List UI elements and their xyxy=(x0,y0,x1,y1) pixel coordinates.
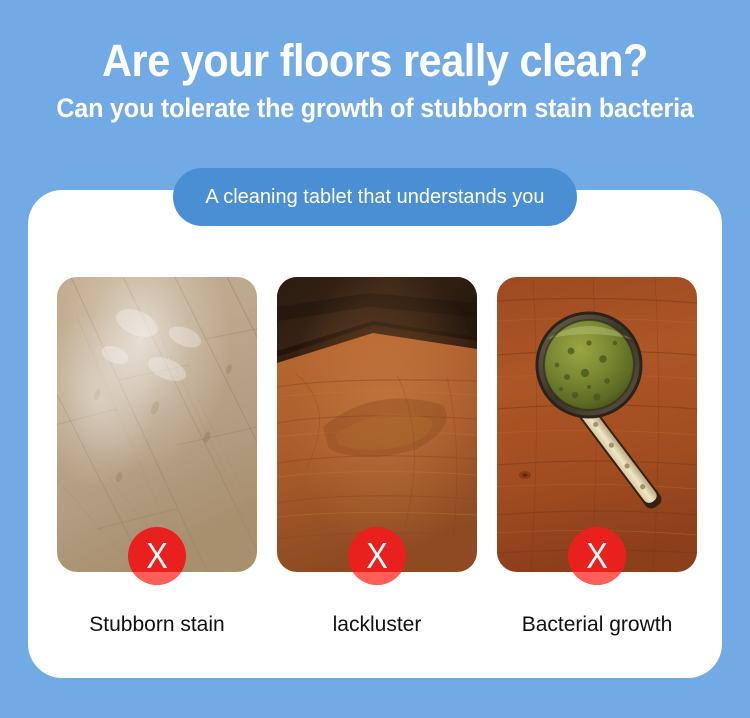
x-mark-icon: X xyxy=(366,538,388,574)
problem-item-3: X xyxy=(497,277,697,572)
problem-caption-row: Stubborn stain lackluster Bacterial grow… xyxy=(57,612,697,638)
x-mark-icon: X xyxy=(146,538,168,574)
caption-stubborn-stain: Stubborn stain xyxy=(57,612,257,638)
promo-banner-pill: A cleaning tablet that understands you xyxy=(173,168,577,226)
problem-x-badge: X xyxy=(348,527,406,585)
caption-bacterial-growth: Bacterial growth xyxy=(497,612,697,638)
page-title: Are your floors really clean? xyxy=(30,0,720,86)
promo-banner-text: A cleaning tablet that understands you xyxy=(205,185,544,209)
problem-x-badge: X xyxy=(568,527,626,585)
x-mark-icon: X xyxy=(586,538,608,574)
problem-item-1: X xyxy=(57,277,257,572)
problem-item-2: X xyxy=(277,277,477,572)
headline-block: Are your floors really clean? Can you to… xyxy=(0,0,750,124)
problem-photo-row: X xyxy=(57,277,697,572)
caption-lackluster: lackluster xyxy=(277,612,477,638)
problem-x-badge: X xyxy=(128,527,186,585)
page-subtitle: Can you tolerate the growth of stubborn … xyxy=(26,86,724,124)
